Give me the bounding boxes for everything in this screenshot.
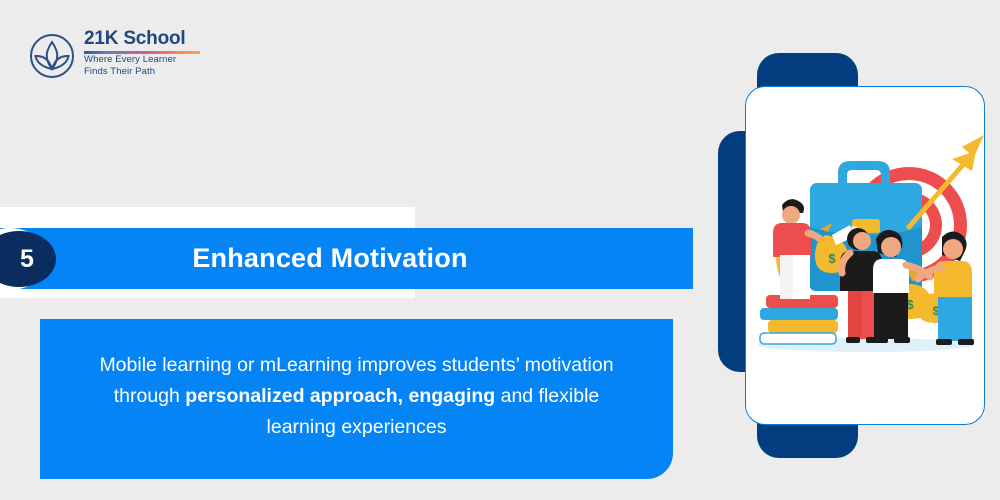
brand-tagline-line-2: Finds Their Path <box>84 66 224 78</box>
body-segment-2-bold: personalized approach, <box>185 385 403 407</box>
stack-of-books-shape <box>760 295 838 344</box>
lotus-circle-icon <box>28 32 76 80</box>
body-text: Mobile learning or mLearning improves st… <box>40 319 673 479</box>
svg-text:$: $ <box>828 251 836 266</box>
brand-name: 21K School <box>84 28 224 50</box>
brand-tagline-line-1: Where Every Learner <box>84 54 224 66</box>
illustration-card: $ <box>745 86 985 425</box>
page-title: Enhanced Motivation <box>0 228 660 289</box>
brand-logo: 21K School Where Every Learner Finds The… <box>28 28 228 84</box>
slide-canvas: 21K School Where Every Learner Finds The… <box>0 0 1000 500</box>
brand-wordmark: 21K School Where Every Learner Finds The… <box>84 28 224 78</box>
body-segment-4-bold: engaging <box>409 385 496 407</box>
team-goal-target-illustration: $ <box>746 87 984 423</box>
